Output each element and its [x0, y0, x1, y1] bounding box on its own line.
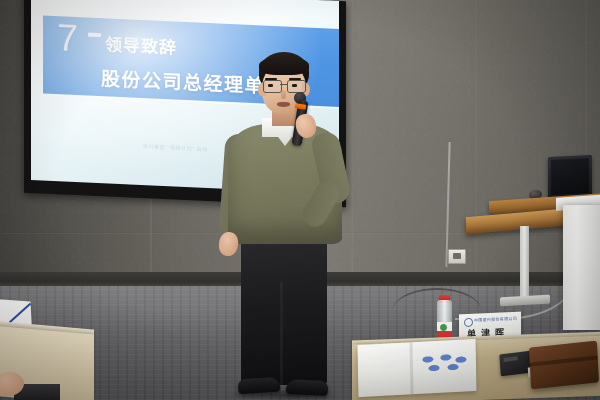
placard-organization: 中国振兴股份有限公司	[474, 316, 517, 324]
speaker-figure	[214, 52, 354, 400]
speaker-mouth	[277, 102, 290, 107]
phone-screen-glint	[504, 356, 518, 362]
speaker-left-hand	[217, 231, 239, 257]
slide-number: 7	[57, 18, 77, 59]
glasses-lens-right	[287, 80, 306, 93]
wall-panel-seam	[475, 0, 477, 286]
leather-notebook	[529, 341, 599, 390]
presentation-photo: 7 领导致辞 股份公司总经理单津晖 振兴集团 "强网计划" 启动	[0, 0, 600, 400]
binder-spine	[410, 342, 414, 394]
binder-page-marks	[420, 353, 468, 373]
speaker-nose	[281, 90, 286, 99]
glasses-lens-left	[263, 80, 282, 93]
speaker-eye-left	[268, 84, 273, 87]
slide-dash-icon	[88, 33, 101, 38]
trouser-seam	[280, 282, 283, 386]
laptop-screen	[551, 158, 589, 195]
placard-logo-icon	[464, 318, 473, 327]
lectern-body	[563, 205, 600, 330]
slide-title: 领导致辞	[105, 30, 177, 58]
speaker-eye-right	[292, 84, 297, 87]
open-binder	[358, 339, 477, 397]
speaker-shoe-left	[238, 377, 281, 395]
slide-footer-text: 振兴集团 "强网计划" 启动	[143, 143, 208, 153]
side-desk-leg	[520, 226, 529, 302]
speaker-hair-front	[259, 56, 309, 75]
speaker-shoe-right	[286, 379, 329, 396]
notebook-elastic-band	[530, 355, 598, 366]
laptop	[548, 155, 592, 199]
speaker-trousers	[241, 237, 327, 385]
